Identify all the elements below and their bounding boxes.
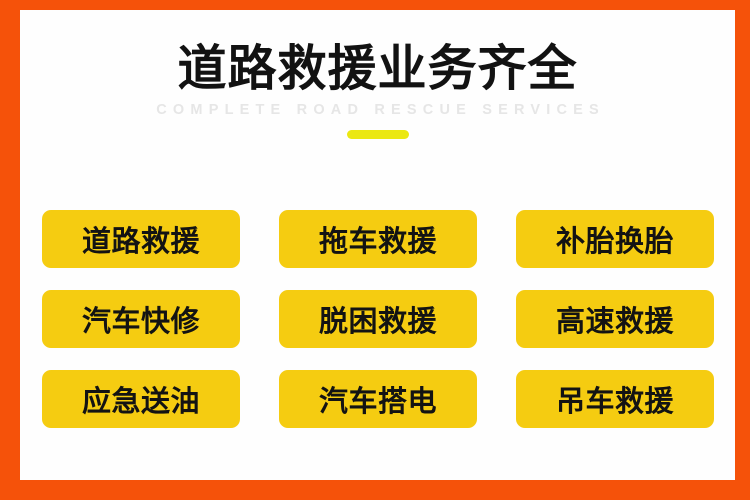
accent-bar [347,130,409,139]
service-button-tire-repair[interactable]: 补胎换胎 [516,210,714,268]
service-button-road-rescue[interactable]: 道路救援 [42,210,240,268]
page-title: 道路救援业务齐全 [20,10,735,94]
service-button-grid: 道路救援 拖车救援 补胎换胎 汽车快修 脱困救援 高速救援 应急送油 汽车搭电 … [42,210,715,428]
page-subtitle: COMPLETE ROAD RESCUE SERVICES [20,94,735,118]
service-button-tow-rescue[interactable]: 拖车救援 [279,210,477,268]
service-button-quick-repair[interactable]: 汽车快修 [42,290,240,348]
poster-frame: 道路救援业务齐全 COMPLETE ROAD RESCUE SERVICES 道… [0,0,750,500]
service-button-highway-rescue[interactable]: 高速救援 [516,290,714,348]
service-button-extraction[interactable]: 脱困救援 [279,290,477,348]
poster-canvas: 道路救援业务齐全 COMPLETE ROAD RESCUE SERVICES 道… [20,10,735,480]
service-button-emergency-fuel[interactable]: 应急送油 [42,370,240,428]
poster-header: 道路救援业务齐全 COMPLETE ROAD RESCUE SERVICES [20,10,735,139]
service-button-crane-rescue[interactable]: 吊车救援 [516,370,714,428]
service-button-jump-start[interactable]: 汽车搭电 [279,370,477,428]
